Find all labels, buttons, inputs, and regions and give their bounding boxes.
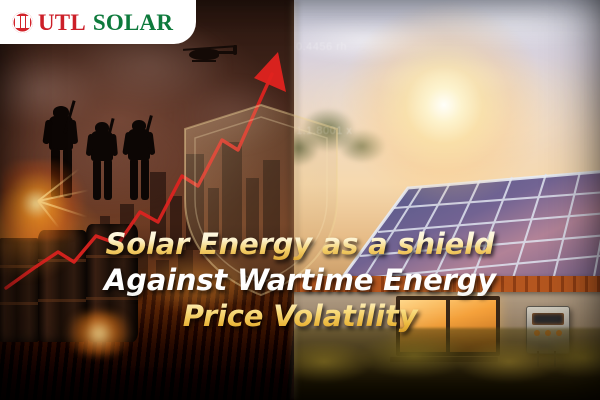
solar-energy-banner: 0.4456 rh 1.1.8001 x UTL SOLAR Solar Ene… (0, 0, 600, 400)
logo-word-solar: SOLAR (93, 11, 173, 34)
rising-price-arrow (0, 0, 294, 300)
hedge-shrub (294, 328, 600, 400)
emblem-inner-mark (15, 16, 30, 28)
left-war-scene (0, 0, 294, 400)
roof-eave-tiles (294, 276, 600, 292)
utl-circular-emblem-icon (12, 12, 33, 33)
inverter-display (532, 313, 564, 325)
logo-banner[interactable]: UTL SOLAR (0, 0, 196, 44)
right-solar-scene (294, 0, 600, 400)
logo-word-utl: UTL (38, 11, 86, 34)
